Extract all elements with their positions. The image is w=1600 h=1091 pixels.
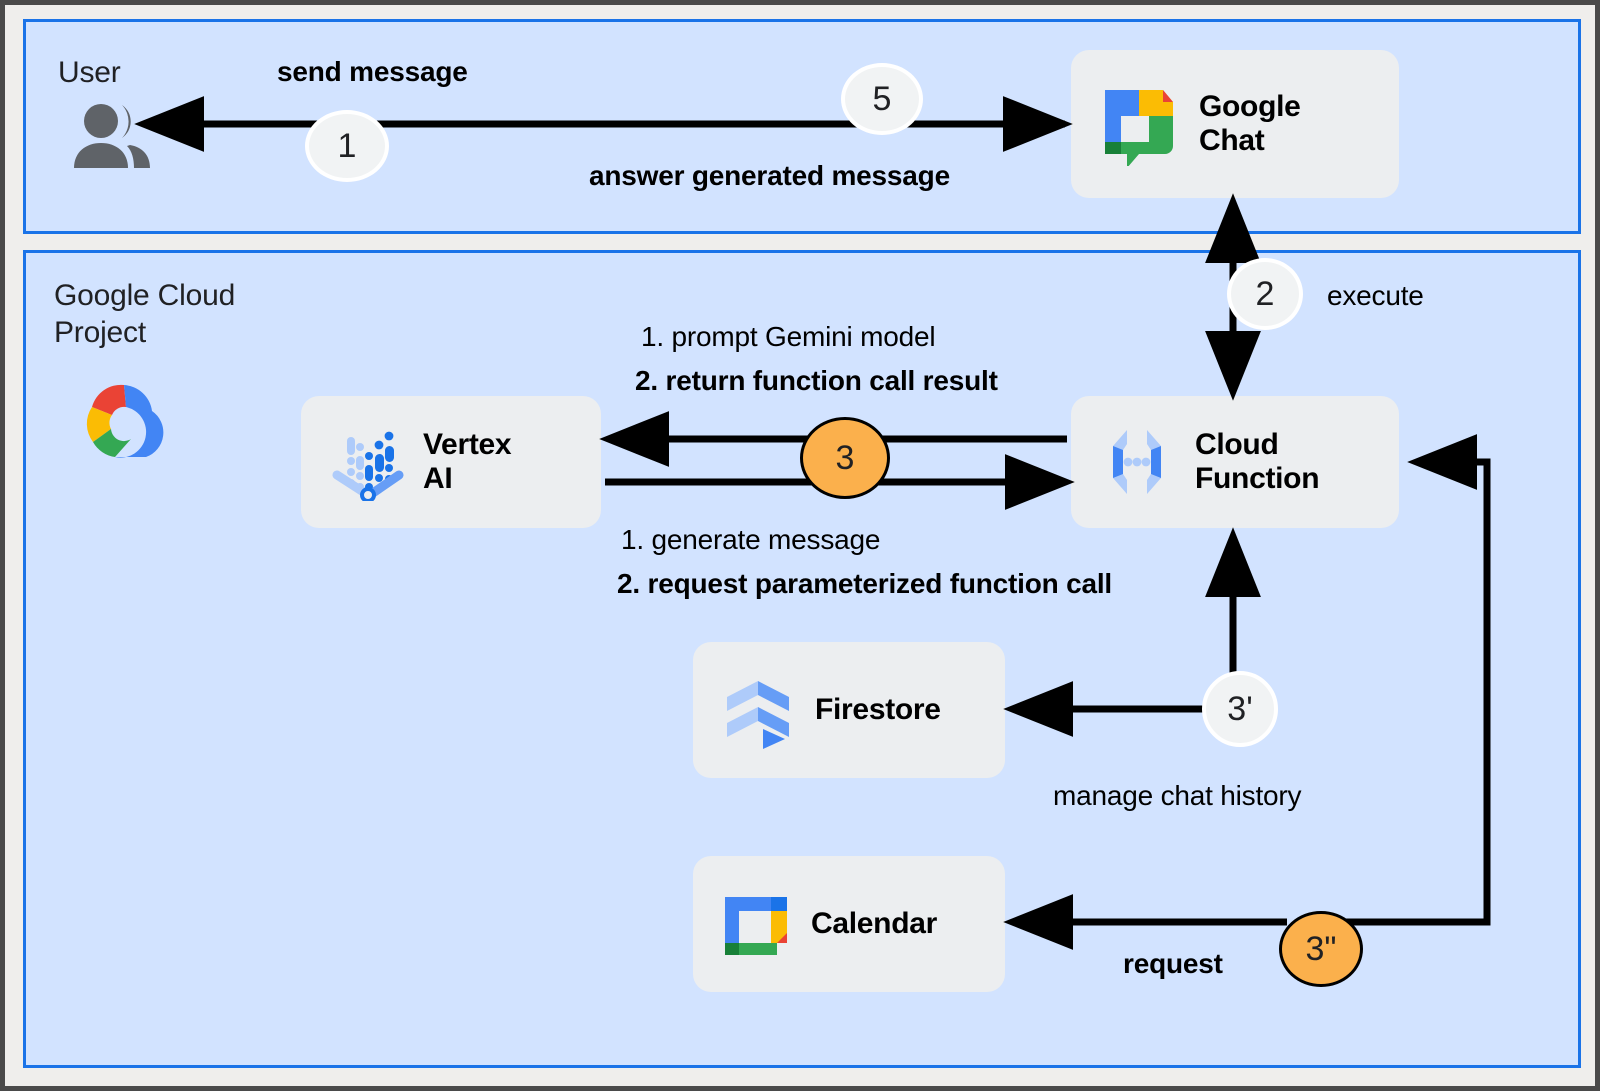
node-label: Vertex AI: [423, 428, 511, 495]
cloud-function-icon: [1097, 422, 1177, 502]
step-badge-1[interactable]: 1: [305, 110, 389, 182]
step-badge-3-prime[interactable]: 3': [1202, 671, 1278, 747]
edge-label-prompt-gemini-model: 1. prompt Gemini model: [641, 318, 935, 357]
node-vertex-ai[interactable]: Vertex AI: [301, 396, 601, 528]
node-label: Firestore: [815, 693, 941, 727]
google-chat-icon: [1097, 82, 1181, 166]
google-calendar-icon: [719, 887, 793, 961]
node-label: Cloud Function: [1195, 428, 1319, 495]
node-calendar[interactable]: Calendar: [693, 856, 1005, 992]
step-badge-2[interactable]: 2: [1227, 258, 1303, 330]
edge-label-request-parameterized-function-call: 2. request parameterized function call: [617, 565, 1112, 604]
node-label: Google Chat: [1199, 90, 1301, 157]
diagram-canvas: User Google Cloud Project: [0, 0, 1600, 1091]
edge-label-execute: execute: [1327, 277, 1424, 316]
node-cloud-function[interactable]: Cloud Function: [1071, 396, 1399, 528]
node-firestore[interactable]: Firestore: [693, 642, 1005, 778]
node-google-chat[interactable]: Google Chat: [1071, 50, 1399, 198]
vertex-ai-icon: [327, 423, 405, 501]
edge-label-answer-generated-message: answer generated message: [589, 157, 950, 196]
step-badge-5[interactable]: 5: [841, 63, 923, 135]
edge-label-return-function-call-result: 2. return function call result: [635, 362, 998, 401]
edge-label-send-message: send message: [277, 53, 468, 92]
edge-label-manage-chat-history: manage chat history: [1053, 777, 1301, 816]
google-cloud-icon: [68, 381, 170, 465]
step-badge-3-double-prime[interactable]: 3": [1279, 911, 1363, 987]
edge-label-generate-message: 1. generate message: [621, 521, 880, 560]
node-label: Calendar: [811, 907, 937, 941]
firestore-icon: [719, 671, 797, 749]
panel-user-title: User: [58, 55, 121, 92]
people-icon: [70, 100, 154, 172]
edge-label-request: request: [1123, 945, 1223, 984]
step-badge-3[interactable]: 3: [800, 417, 890, 499]
panel-gcp-title: Google Cloud Project: [54, 278, 235, 351]
